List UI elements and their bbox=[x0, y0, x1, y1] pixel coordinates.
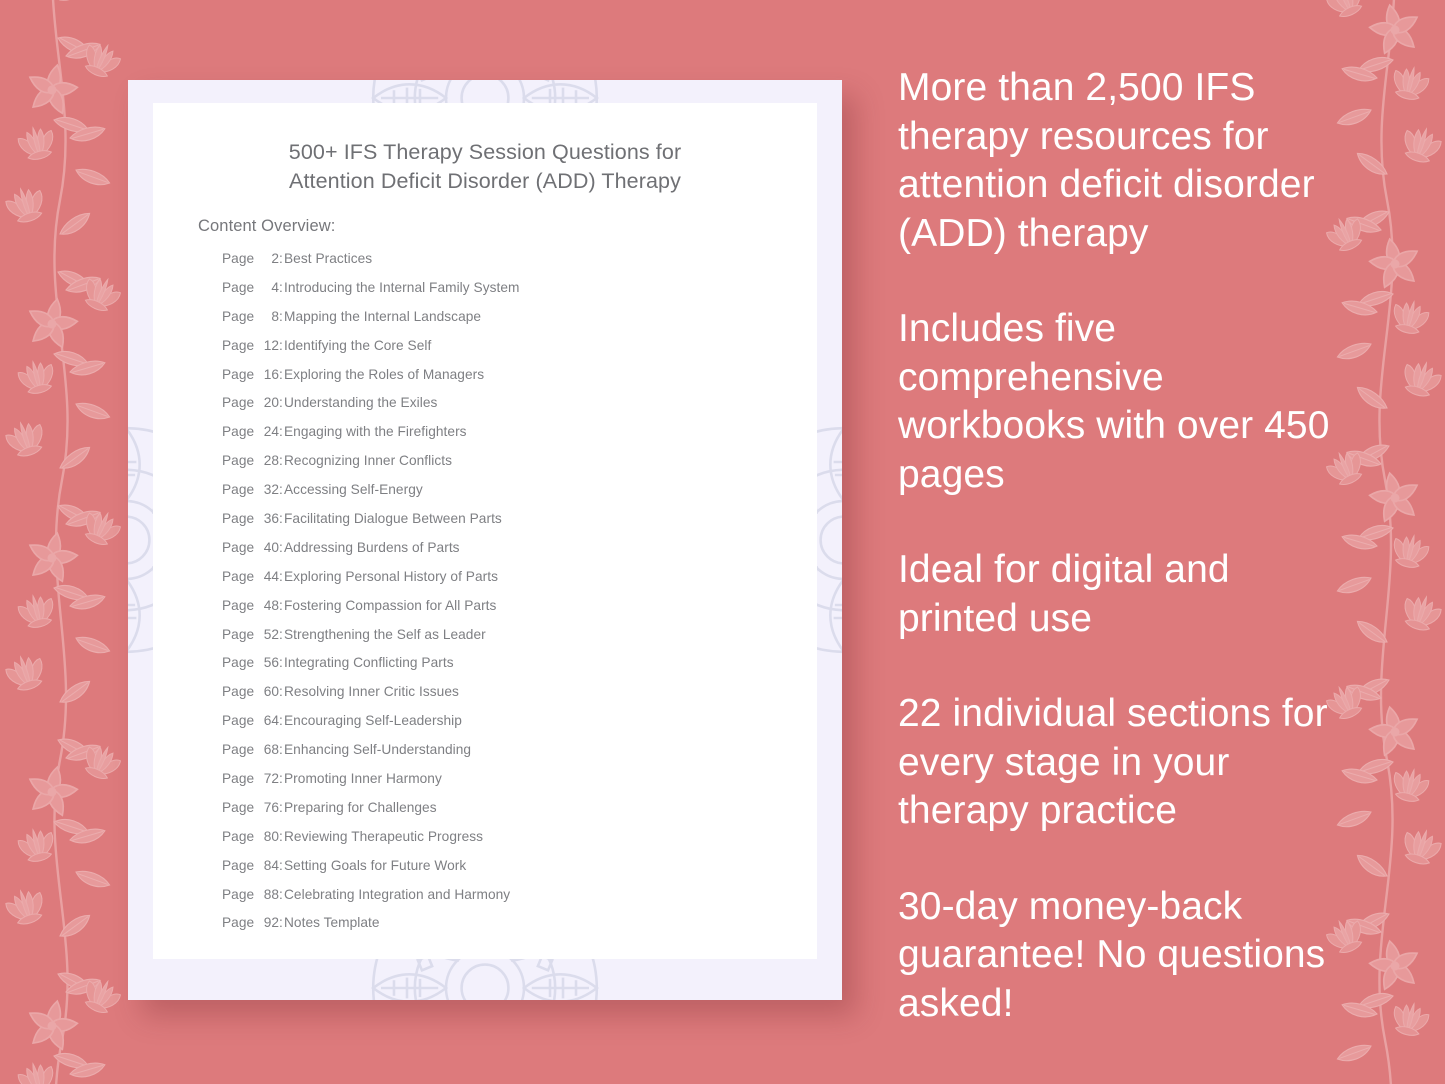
toc-row: Page 56:Integrating Conflicting Parts bbox=[198, 655, 797, 684]
toc-topic: Reviewing Therapeutic Progress bbox=[284, 829, 797, 844]
product-poster: 500+ IFS Therapy Session Questions for A… bbox=[0, 0, 1445, 1084]
toc-page-number: Page 44: bbox=[222, 569, 284, 584]
marketing-bullet: 22 individual sections for every stage i… bbox=[898, 690, 1338, 836]
toc-page-number: Page 24: bbox=[222, 424, 284, 439]
toc-page-number: Page 16: bbox=[222, 367, 284, 382]
toc-topic: Integrating Conflicting Parts bbox=[284, 655, 797, 670]
toc-page-number: Page 48: bbox=[222, 598, 284, 613]
toc-page-number: Page 80: bbox=[222, 829, 284, 844]
toc-page-number: Page 40: bbox=[222, 540, 284, 555]
toc-topic: Addressing Burdens of Parts bbox=[284, 540, 797, 555]
toc-row: Page 80:Reviewing Therapeutic Progress bbox=[198, 829, 797, 858]
toc-topic: Accessing Self-Energy bbox=[284, 482, 797, 497]
toc-page-number: Page 32: bbox=[222, 482, 284, 497]
toc-topic: Best Practices bbox=[284, 251, 797, 266]
toc-row: Page 12:Identifying the Core Self bbox=[198, 338, 797, 367]
marketing-bullet: 30-day money-back guarantee! No question… bbox=[898, 883, 1338, 1029]
toc-page-number: Page 92: bbox=[222, 915, 284, 930]
toc-row: Page 88:Celebrating Integration and Harm… bbox=[198, 887, 797, 916]
toc-topic: Resolving Inner Critic Issues bbox=[284, 684, 797, 699]
toc-topic: Promoting Inner Harmony bbox=[284, 771, 797, 786]
toc-page-number: Page 12: bbox=[222, 338, 284, 353]
workbook-cover-card[interactable]: 500+ IFS Therapy Session Questions for A… bbox=[128, 80, 842, 1000]
toc-row: Page 36:Facilitating Dialogue Between Pa… bbox=[198, 511, 797, 540]
toc-topic: Setting Goals for Future Work bbox=[284, 858, 797, 873]
toc-row: Page 48:Fostering Compassion for All Par… bbox=[198, 598, 797, 627]
toc-topic: Facilitating Dialogue Between Parts bbox=[284, 511, 797, 526]
cover-page: 500+ IFS Therapy Session Questions for A… bbox=[153, 103, 817, 959]
toc-page-number: Page 84: bbox=[222, 858, 284, 873]
toc-topic: Introducing the Internal Family System bbox=[284, 280, 797, 295]
toc-row: Page 20:Understanding the Exiles bbox=[198, 395, 797, 424]
toc-topic: Recognizing Inner Conflicts bbox=[284, 453, 797, 468]
toc-row: Page 68:Enhancing Self-Understanding bbox=[198, 742, 797, 771]
toc-topic: Identifying the Core Self bbox=[284, 338, 797, 353]
floral-vine-pattern-left bbox=[0, 0, 138, 1084]
toc-page-number: Page 88: bbox=[222, 887, 284, 902]
toc-row: Page 64:Encouraging Self-Leadership bbox=[198, 713, 797, 742]
toc-row: Page 4:Introducing the Internal Family S… bbox=[198, 280, 797, 309]
toc-topic: Notes Template bbox=[284, 915, 797, 930]
toc-row: Page 60:Resolving Inner Critic Issues bbox=[198, 684, 797, 713]
toc-row: Page 16:Exploring the Roles of Managers bbox=[198, 367, 797, 396]
toc-page-number: Page 68: bbox=[222, 742, 284, 757]
toc-topic: Celebrating Integration and Harmony bbox=[284, 887, 797, 902]
marketing-bullet: Includes five comprehensive workbooks wi… bbox=[898, 305, 1338, 499]
toc-row: Page 92:Notes Template bbox=[198, 915, 797, 944]
toc-row: Page 76:Preparing for Challenges bbox=[198, 800, 797, 829]
toc-topic: Engaging with the Firefighters bbox=[284, 424, 797, 439]
toc-page-number: Page 76: bbox=[222, 800, 284, 815]
toc-page-number: Page 36: bbox=[222, 511, 284, 526]
toc-row: Page 40:Addressing Burdens of Parts bbox=[198, 540, 797, 569]
toc-row: Page 72:Promoting Inner Harmony bbox=[198, 771, 797, 800]
toc-page-number: Page 4: bbox=[222, 280, 284, 295]
toc-row: Page 52:Strengthening the Self as Leader bbox=[198, 627, 797, 656]
toc-topic: Encouraging Self-Leadership bbox=[284, 713, 797, 728]
toc-row: Page 24:Engaging with the Firefighters bbox=[198, 424, 797, 453]
page-title: 500+ IFS Therapy Session Questions for A… bbox=[153, 138, 817, 196]
toc-topic: Mapping the Internal Landscape bbox=[284, 309, 797, 324]
toc-page-number: Page 64: bbox=[222, 713, 284, 728]
toc-topic: Exploring the Roles of Managers bbox=[284, 367, 797, 382]
table-of-contents: Page 2:Best PracticesPage 4:Introducing … bbox=[198, 251, 797, 944]
toc-page-number: Page 52: bbox=[222, 627, 284, 642]
toc-topic: Preparing for Challenges bbox=[284, 800, 797, 815]
toc-page-number: Page 72: bbox=[222, 771, 284, 786]
marketing-bullet-list: More than 2,500 IFS therapy resources fo… bbox=[898, 64, 1338, 1028]
toc-row: Page 32:Accessing Self-Energy bbox=[198, 482, 797, 511]
toc-page-number: Page 28: bbox=[222, 453, 284, 468]
toc-row: Page 28:Recognizing Inner Conflicts bbox=[198, 453, 797, 482]
toc-page-number: Page 56: bbox=[222, 655, 284, 670]
toc-page-number: Page 2: bbox=[222, 251, 284, 266]
marketing-bullet: Ideal for digital and printed use bbox=[898, 546, 1338, 643]
toc-page-number: Page 60: bbox=[222, 684, 284, 699]
toc-topic: Fostering Compassion for All Parts bbox=[284, 598, 797, 613]
toc-row: Page 2:Best Practices bbox=[198, 251, 797, 280]
toc-topic: Understanding the Exiles bbox=[284, 395, 797, 410]
toc-page-number: Page 20: bbox=[222, 395, 284, 410]
toc-topic: Enhancing Self-Understanding bbox=[284, 742, 797, 757]
toc-topic: Exploring Personal History of Parts bbox=[284, 569, 797, 584]
toc-row: Page 84:Setting Goals for Future Work bbox=[198, 858, 797, 887]
content-overview-label: Content Overview: bbox=[198, 217, 335, 236]
marketing-bullet: More than 2,500 IFS therapy resources fo… bbox=[898, 64, 1338, 258]
toc-page-number: Page 8: bbox=[222, 309, 284, 324]
toc-row: Page 44:Exploring Personal History of Pa… bbox=[198, 569, 797, 598]
toc-topic: Strengthening the Self as Leader bbox=[284, 627, 797, 642]
toc-row: Page 8:Mapping the Internal Landscape bbox=[198, 309, 797, 338]
